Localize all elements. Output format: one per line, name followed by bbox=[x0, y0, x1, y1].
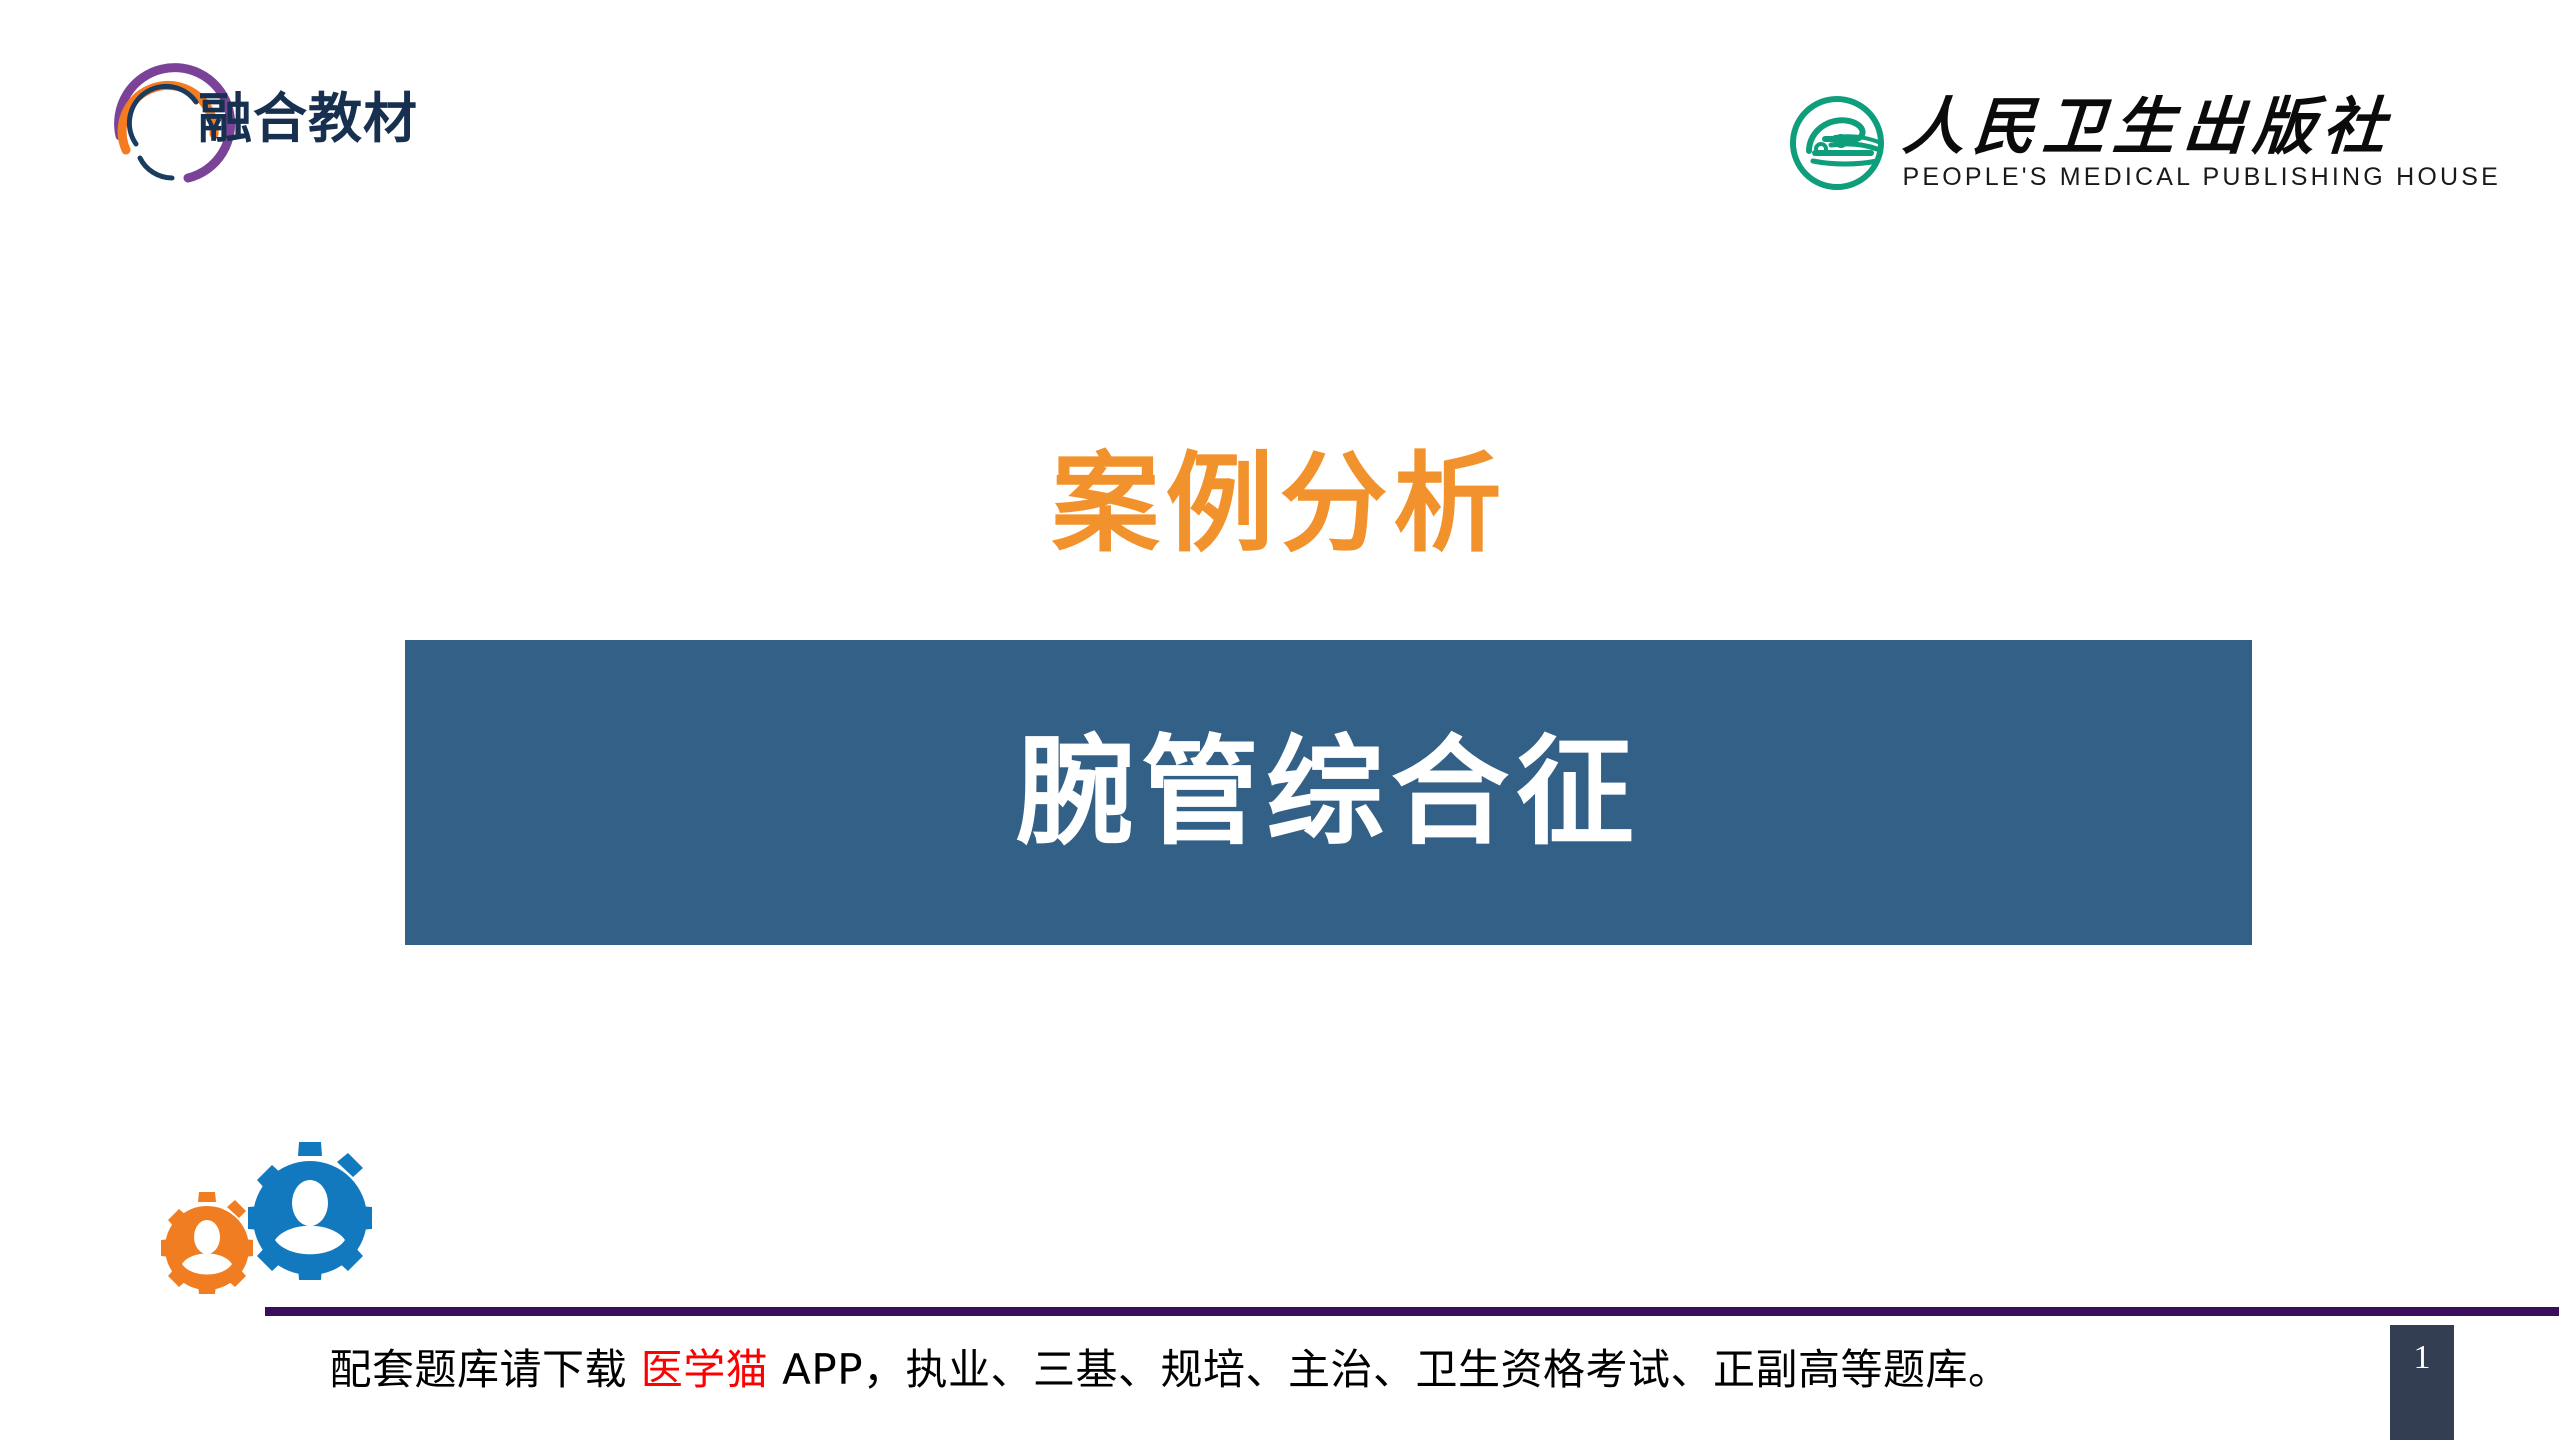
publisher-name-en: PEOPLE'S MEDICAL PUBLISHING HOUSE bbox=[1903, 163, 2501, 192]
brand-logo-label: 融合教材 bbox=[198, 92, 418, 146]
gear-people-icon bbox=[145, 1130, 415, 1310]
title-banner: 腕管综合征 bbox=[405, 640, 2252, 945]
footer-note-suffix: APP，执业、三基、规培、主治、卫生资格考试、正副高等题库。 bbox=[768, 1345, 2010, 1394]
brand-logo: 融合教材 bbox=[110, 50, 440, 190]
footer-note: 配套题库请下载 医学猫 APP，执业、三基、规培、主治、卫生资格考试、正副高等题… bbox=[0, 1336, 2340, 1397]
slide-heading: 案例分析 bbox=[0, 443, 2559, 567]
footer-note-brand: 医学猫 bbox=[641, 1345, 769, 1394]
slide-title: 腕管综合征 bbox=[1016, 728, 1641, 858]
footer-note-prefix: 配套题库请下载 bbox=[329, 1345, 640, 1394]
publisher-name-cn: 人民卫生出版社 bbox=[1900, 94, 2395, 159]
publisher-logo-wordmark: 人民卫生出版社 PEOPLE'S MEDICAL PUBLISHING HOUS… bbox=[1903, 94, 2501, 192]
footer-divider bbox=[265, 1307, 2559, 1316]
page-number: 1 bbox=[2414, 1341, 2431, 1375]
publisher-emblem-icon bbox=[1785, 91, 1889, 195]
publisher-logo: 人民卫生出版社 PEOPLE'S MEDICAL PUBLISHING HOUS… bbox=[1785, 78, 2501, 208]
page-number-badge: 1 bbox=[2390, 1325, 2454, 1440]
